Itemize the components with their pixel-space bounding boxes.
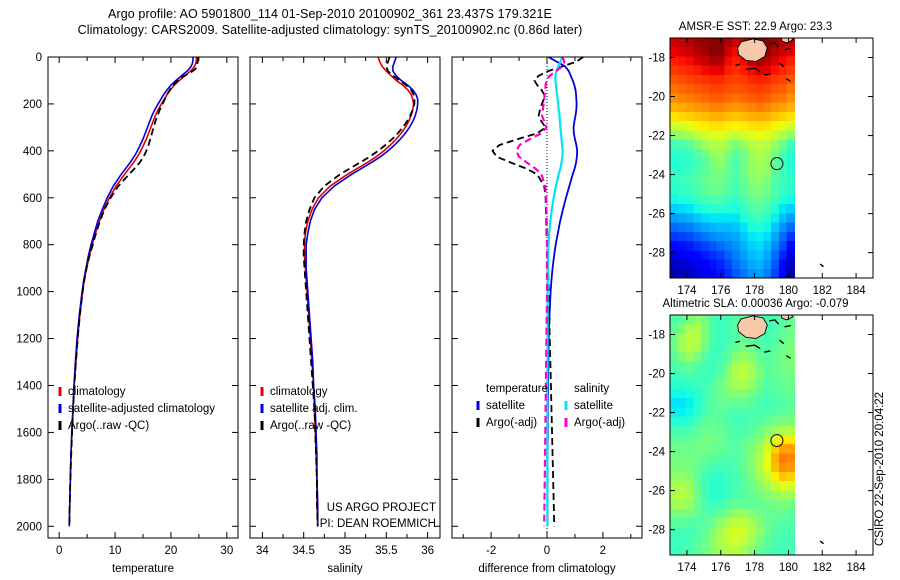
map-cell <box>670 232 678 242</box>
map-cell <box>732 213 740 223</box>
legend-label: satellite adj. clim. <box>270 403 358 415</box>
map-cell <box>755 195 763 205</box>
map-cell <box>701 333 709 343</box>
map-cell <box>771 66 779 76</box>
map-cell <box>763 223 771 233</box>
map-cell <box>686 176 694 186</box>
map-cell <box>717 370 725 380</box>
map-cell <box>717 47 725 57</box>
map-cell <box>670 389 678 399</box>
map-cell <box>787 481 795 491</box>
map-cell <box>724 195 732 205</box>
map-cell <box>701 417 709 427</box>
map-y-tick-label: -18 <box>648 330 665 342</box>
map-cell <box>763 260 771 270</box>
map-cell <box>779 546 787 556</box>
map-cell <box>732 140 740 150</box>
map-cell <box>732 121 740 131</box>
map-cell <box>748 527 756 537</box>
map-x-tick-label: 178 <box>745 285 764 297</box>
map-cell <box>740 149 748 159</box>
map-cell <box>755 527 763 537</box>
map-cell <box>787 500 795 510</box>
map-cell <box>740 546 748 556</box>
map-cell <box>717 352 725 362</box>
map-cell <box>678 66 686 76</box>
map-cell <box>693 509 701 519</box>
map-cell <box>732 500 740 510</box>
map-cell <box>787 84 795 94</box>
map-cell <box>748 250 756 260</box>
map-cell <box>724 84 732 94</box>
map-cell <box>693 260 701 270</box>
map-cell <box>779 518 787 528</box>
map-cell <box>755 463 763 473</box>
map-cell <box>787 250 795 260</box>
map-cell <box>763 167 771 177</box>
map-cell <box>670 121 678 131</box>
map-cell <box>771 417 779 427</box>
map-cell <box>686 407 694 417</box>
curve-satellite-adj-clim- <box>306 57 418 526</box>
map-cell <box>740 444 748 454</box>
map-cell <box>748 407 756 417</box>
y-tick-label: 200 <box>23 99 42 111</box>
map-cell <box>755 158 763 168</box>
map-cell <box>709 537 717 547</box>
map-cell <box>709 186 717 196</box>
map-cell <box>748 453 756 463</box>
map-cell <box>670 84 678 94</box>
map-cell <box>779 93 787 103</box>
map-cell <box>717 223 725 233</box>
map-cell <box>732 130 740 140</box>
x-axis-label: difference from climatology <box>478 563 615 575</box>
map-x-tick-label: 176 <box>711 285 730 297</box>
map-cell <box>732 223 740 233</box>
map-cell <box>701 241 709 251</box>
map-cell <box>717 426 725 436</box>
map-cell <box>787 509 795 519</box>
map-cell <box>709 195 717 205</box>
map-cell <box>717 527 725 537</box>
map-cell <box>748 481 756 491</box>
map-cell <box>701 361 709 371</box>
curve-satellite-adjusted-climatology <box>69 57 193 526</box>
map-cell <box>709 463 717 473</box>
map-cell <box>678 389 686 399</box>
map-cell <box>763 481 771 491</box>
map-cell <box>787 241 795 251</box>
map-cell <box>670 527 678 537</box>
curve-argo-raw-qc- <box>304 57 415 526</box>
map-cell <box>779 195 787 205</box>
map-cell <box>717 103 725 113</box>
sla-map: 174176178180182184-18-20-22-24-26-28Alti… <box>648 298 873 574</box>
map-cell <box>748 130 756 140</box>
map-cell <box>771 380 779 390</box>
map-cell <box>709 453 717 463</box>
map-cell <box>693 195 701 205</box>
map-cell <box>686 324 694 334</box>
map-cell <box>678 186 686 196</box>
map-cell <box>678 260 686 270</box>
map-cell <box>693 324 701 334</box>
map-cell <box>724 167 732 177</box>
map-cell <box>771 509 779 519</box>
map-cell <box>724 435 732 445</box>
map-cell <box>717 333 725 343</box>
map-cell <box>763 537 771 547</box>
x-tick-label: 36 <box>421 545 434 557</box>
map-cell <box>763 241 771 251</box>
map-cell <box>717 140 725 150</box>
map-cell <box>693 481 701 491</box>
map-cell <box>709 213 717 223</box>
map-cell <box>787 232 795 242</box>
map-cell <box>709 149 717 159</box>
map-cell <box>763 463 771 473</box>
credit-block: US ARGO PROJECTPI: DEAN ROEMMICH <box>320 502 436 530</box>
map-cell <box>686 380 694 390</box>
map-cell <box>771 167 779 177</box>
map-cell <box>709 204 717 214</box>
map-cell <box>763 444 771 454</box>
map-cell <box>787 333 795 343</box>
map-cell <box>732 463 740 473</box>
map-cell <box>779 324 787 334</box>
map-cell <box>724 103 732 113</box>
map-cell <box>686 417 694 427</box>
map-cell <box>701 232 709 242</box>
map-cell <box>717 500 725 510</box>
map-cell <box>693 370 701 380</box>
map-cell <box>779 241 787 251</box>
map-cell <box>724 481 732 491</box>
map-cell <box>701 509 709 519</box>
map-cell <box>709 167 717 177</box>
map-cell <box>717 121 725 131</box>
map-cell <box>678 435 686 445</box>
map-cell <box>670 186 678 196</box>
map-cell <box>763 398 771 408</box>
map-cell <box>763 417 771 427</box>
map-cell <box>678 472 686 482</box>
x-tick-label: 34 <box>256 545 269 557</box>
map-cell <box>709 260 717 270</box>
map-cell <box>670 537 678 547</box>
map-x-tick-label: 180 <box>779 562 798 574</box>
map-cell <box>779 490 787 500</box>
map-cell <box>686 121 694 131</box>
map-cell <box>724 426 732 436</box>
map-cell <box>678 518 686 528</box>
map-cell <box>717 213 725 223</box>
map-cell <box>724 241 732 251</box>
map-cell <box>771 352 779 362</box>
map-cell <box>779 140 787 150</box>
map-cell <box>740 361 748 371</box>
map-cell <box>678 223 686 233</box>
map-cell <box>755 186 763 196</box>
map-cell <box>686 435 694 445</box>
map-cell <box>724 149 732 159</box>
map-cell <box>686 352 694 362</box>
map-cell <box>709 241 717 251</box>
map-cell <box>763 269 771 279</box>
map-cell <box>732 176 740 186</box>
map-cell <box>693 250 701 260</box>
map-cell <box>701 527 709 537</box>
map-cell <box>686 103 694 113</box>
map-cell <box>693 158 701 168</box>
map-cell <box>755 223 763 233</box>
map-cell <box>763 389 771 399</box>
map-cell <box>732 444 740 454</box>
map-cell <box>670 453 678 463</box>
map-cell <box>779 269 787 279</box>
map-cell <box>717 509 725 519</box>
map-cell <box>779 149 787 159</box>
map-cell <box>787 66 795 76</box>
x-tick-label: 34.5 <box>293 545 315 557</box>
map-cell <box>717 93 725 103</box>
curve-argo-raw-qc- <box>69 57 198 526</box>
map-cell <box>670 361 678 371</box>
map-cell <box>779 213 787 223</box>
map-cell <box>701 121 709 131</box>
map-cell <box>779 417 787 427</box>
map-cell <box>686 75 694 85</box>
map-cell <box>724 130 732 140</box>
map-cell <box>732 426 740 436</box>
plot-area: 0102030020040060080010001200140016001800… <box>0 0 900 580</box>
map-cell <box>771 260 779 270</box>
map-cell <box>787 361 795 371</box>
x-tick-label: 0 <box>544 545 550 557</box>
map-cell <box>693 472 701 482</box>
map-cell <box>709 130 717 140</box>
map-cell <box>701 223 709 233</box>
map-cell <box>678 75 686 85</box>
map-cell <box>686 398 694 408</box>
map-cell <box>693 352 701 362</box>
map-cell <box>709 84 717 94</box>
map-y-tick-label: -26 <box>648 486 665 498</box>
map-cell <box>693 140 701 150</box>
map-cell <box>732 269 740 279</box>
map-cell <box>670 195 678 205</box>
map-cell <box>732 453 740 463</box>
map-cell <box>709 121 717 131</box>
map-cell <box>686 527 694 537</box>
map-cell <box>748 158 756 168</box>
map-cell <box>678 315 686 325</box>
map-cell <box>748 186 756 196</box>
map-cell <box>686 84 694 94</box>
map-cell <box>787 518 795 528</box>
map-cell <box>787 149 795 159</box>
map-cell <box>709 435 717 445</box>
map-cell <box>763 546 771 556</box>
map-cell <box>701 250 709 260</box>
map-cell <box>709 481 717 491</box>
map-cell <box>678 352 686 362</box>
map-cell <box>701 38 709 48</box>
map-cell <box>779 361 787 371</box>
map-cell <box>748 490 756 500</box>
map-cell <box>763 75 771 85</box>
map-cell <box>686 426 694 436</box>
map-cell <box>732 343 740 353</box>
map-cell <box>732 66 740 76</box>
map-cell <box>724 66 732 76</box>
map-cell <box>763 93 771 103</box>
map-cell <box>670 370 678 380</box>
map-cell <box>678 232 686 242</box>
map-cell <box>732 103 740 113</box>
map-cell <box>740 84 748 94</box>
map-cell <box>670 140 678 150</box>
map-cell <box>779 66 787 76</box>
map-cell <box>763 195 771 205</box>
map-cell <box>701 324 709 334</box>
map-y-tick-label: -28 <box>648 248 665 260</box>
map-cell <box>779 453 787 463</box>
map-cell <box>686 213 694 223</box>
map-cell <box>740 66 748 76</box>
map-cell <box>771 546 779 556</box>
map-cell <box>755 103 763 113</box>
map-cell <box>771 537 779 547</box>
map-cell <box>787 176 795 186</box>
map-cell <box>763 213 771 223</box>
timestamp-vertical: CSIRO 22-Sep-2010 20:04:22 <box>862 378 878 548</box>
map-cell <box>755 140 763 150</box>
map-cell <box>701 444 709 454</box>
map-cell <box>709 509 717 519</box>
map-cell <box>701 84 709 94</box>
map-y-tick-label: -28 <box>648 525 665 537</box>
map-cell <box>693 112 701 122</box>
map-cell <box>755 213 763 223</box>
map-cell <box>701 490 709 500</box>
map-cell <box>724 223 732 233</box>
map-cell <box>763 527 771 537</box>
axis-box <box>48 57 238 538</box>
map-cell <box>787 343 795 353</box>
map-cell <box>686 370 694 380</box>
map-cell <box>787 463 795 473</box>
map-cell <box>740 509 748 519</box>
map-cell <box>670 269 678 279</box>
map-cell <box>693 47 701 57</box>
map-cell <box>724 407 732 417</box>
map-cell <box>763 121 771 131</box>
map-cell <box>670 509 678 519</box>
map-cell <box>740 518 748 528</box>
map-cell <box>787 380 795 390</box>
map-cell <box>701 195 709 205</box>
map-cell <box>724 333 732 343</box>
map-cell <box>771 324 779 334</box>
map-cell <box>732 204 740 214</box>
map-x-tick-label: 178 <box>745 562 764 574</box>
map-cell <box>748 500 756 510</box>
map-cell <box>693 407 701 417</box>
map-cell <box>724 361 732 371</box>
map-cell <box>787 389 795 399</box>
map-cell <box>787 130 795 140</box>
map-cell <box>686 56 694 66</box>
map-cell <box>748 84 756 94</box>
map-cell <box>732 370 740 380</box>
map-cell <box>732 232 740 242</box>
map-cell <box>740 93 748 103</box>
map-cell <box>701 260 709 270</box>
map-cell <box>787 93 795 103</box>
map-cell <box>771 269 779 279</box>
map-cell <box>717 463 725 473</box>
map-cell <box>732 537 740 547</box>
map-cell <box>724 75 732 85</box>
x-tick-label: 35.5 <box>375 545 397 557</box>
map-cell <box>670 260 678 270</box>
map-cell <box>732 158 740 168</box>
map-cell <box>763 370 771 380</box>
map-cell <box>787 537 795 547</box>
map-cell <box>686 343 694 353</box>
map-x-tick-label: 176 <box>711 562 730 574</box>
map-cell <box>732 241 740 251</box>
figure-title-line2: Climatology: CARS2009. Satellite-adjuste… <box>0 22 660 38</box>
map-cell <box>755 426 763 436</box>
timestamp-text: CSIRO 22-Sep-2010 20:04:22 <box>874 530 886 546</box>
map-y-tick-label: -24 <box>648 447 665 459</box>
map-cell <box>787 426 795 436</box>
map-cell <box>748 103 756 113</box>
map-cell <box>771 370 779 380</box>
map-x-tick-label: 174 <box>677 285 697 297</box>
reef-line <box>765 74 770 75</box>
map-cell <box>701 47 709 57</box>
map-cell <box>686 223 694 233</box>
map-cell <box>779 232 787 242</box>
map-cell <box>755 500 763 510</box>
x-axis-label: temperature <box>112 563 174 575</box>
map-cell <box>678 380 686 390</box>
map-cell <box>701 453 709 463</box>
map-cell <box>693 490 701 500</box>
map-cell <box>787 527 795 537</box>
legend-label: climatology <box>270 386 328 398</box>
map-cell <box>717 204 725 214</box>
map-cell <box>771 56 779 66</box>
map-cell <box>755 84 763 94</box>
map-cell <box>763 56 771 66</box>
map-cell <box>748 121 756 131</box>
map-cell <box>670 103 678 113</box>
map-cell <box>724 417 732 427</box>
map-cell <box>717 66 725 76</box>
map-cell <box>748 343 756 353</box>
map-cell <box>709 66 717 76</box>
map-cell <box>755 250 763 260</box>
map-cell <box>748 463 756 473</box>
map-cell <box>717 453 725 463</box>
map-cell <box>686 361 694 371</box>
map-cell <box>748 66 756 76</box>
